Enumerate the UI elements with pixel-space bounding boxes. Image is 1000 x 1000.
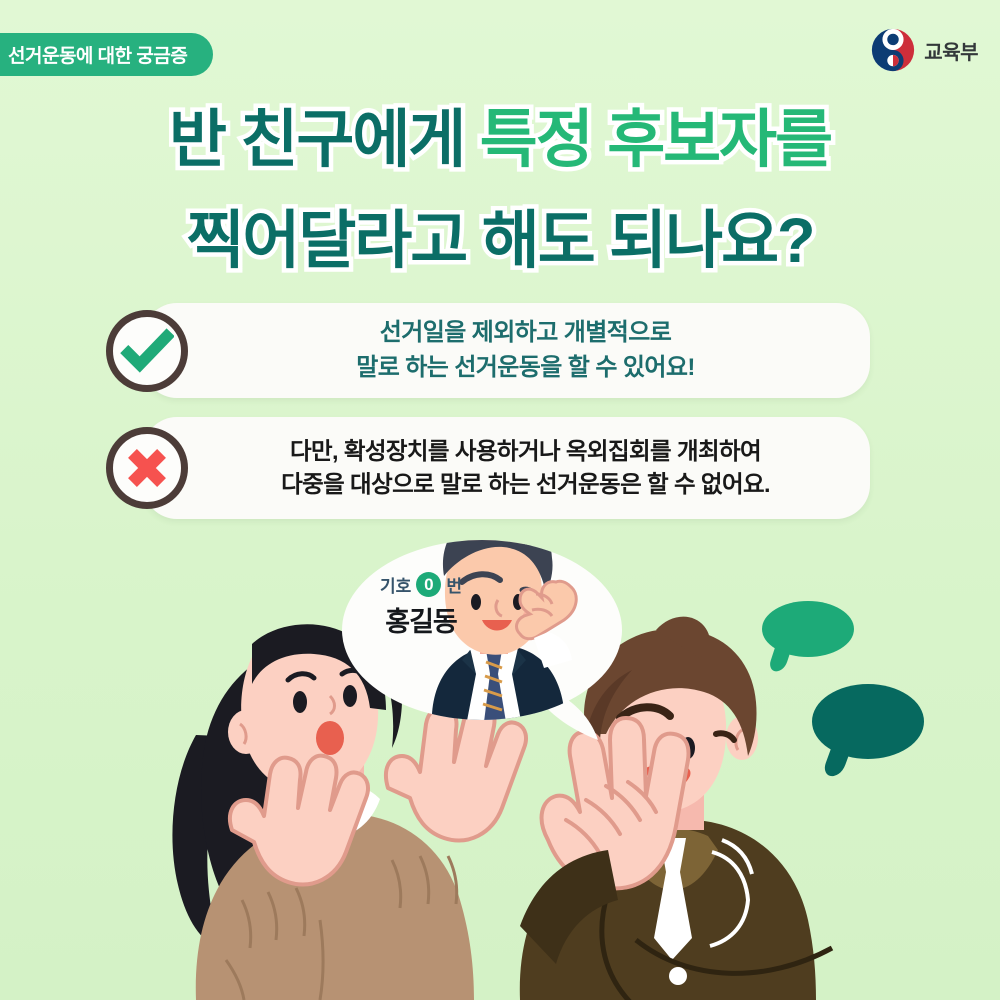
- allowed-info-box: 선거일을 제외하고 개별적으로 말로 하는 선거운동을 할 수 있어요!: [143, 303, 870, 398]
- check-glyph: [120, 324, 174, 378]
- allowed-info-text: 선거일을 제외하고 개별적으로 말로 하는 선거운동을 할 수 있어요!: [143, 316, 870, 384]
- prohibited-info-text: 다만, 확성장치를 사용하거나 옥외집회를 개최하여 다중을 대상으로 말로 하…: [143, 435, 870, 502]
- category-badge: 선거운동에 대한 궁금증: [0, 33, 213, 76]
- allowed-info-line-2: 말로 하는 선거운동을 할 수 있어요!: [181, 351, 870, 385]
- prohibited-info-line-2: 다중을 대상으로 말로 하는 선거운동은 할 수 없어요.: [181, 468, 870, 501]
- candidate-number-suffix: 번: [446, 572, 462, 597]
- poster-canvas: 선거운동에 대한 궁금증 교육부 반 친구에게 특정 후보자를 찍어달라고 해도…: [0, 0, 1000, 1000]
- cross-icon: [106, 427, 188, 509]
- headline-line-1-highlight: 특정 후보자를: [480, 105, 831, 175]
- candidate-number-prefix: 기호: [380, 572, 411, 597]
- illustration: [0, 520, 1000, 1000]
- ministry-logo-label: 교육부: [924, 36, 978, 65]
- prohibited-info-box: 다만, 확성장치를 사용하거나 옥외집회를 개최하여 다중을 대상으로 말로 하…: [143, 417, 870, 519]
- candidate-number-badge: 0: [416, 572, 441, 597]
- candidate-name: 홍길동: [356, 600, 486, 639]
- taegeuk-icon: [871, 28, 915, 72]
- candidate-label: 기호 0 번 홍길동: [356, 572, 486, 639]
- category-badge-label: 선거운동에 대한 궁금증: [8, 41, 187, 68]
- check-icon: [106, 310, 188, 392]
- headline-line-2-plain: 찍어달라고 해도 되나요?: [186, 206, 813, 276]
- page-title: 반 친구에게 특정 후보자를 찍어달라고 해도 되나요?: [0, 98, 1000, 300]
- headline-line-2: 찍어달라고 해도 되나요?: [0, 199, 1000, 300]
- headline-line-1-plain: 반 친구에게: [169, 105, 480, 175]
- cross-glyph: [120, 441, 174, 495]
- allowed-info-line-1: 선거일을 제외하고 개별적으로: [181, 316, 870, 350]
- headline-line-1: 반 친구에게 특정 후보자를: [0, 98, 1000, 199]
- prohibited-info-line-1: 다만, 확성장치를 사용하거나 옥외집회를 개최하여: [181, 435, 870, 468]
- ministry-logo: 교육부: [871, 28, 978, 72]
- candidate-number-row: 기호 0 번: [356, 572, 486, 597]
